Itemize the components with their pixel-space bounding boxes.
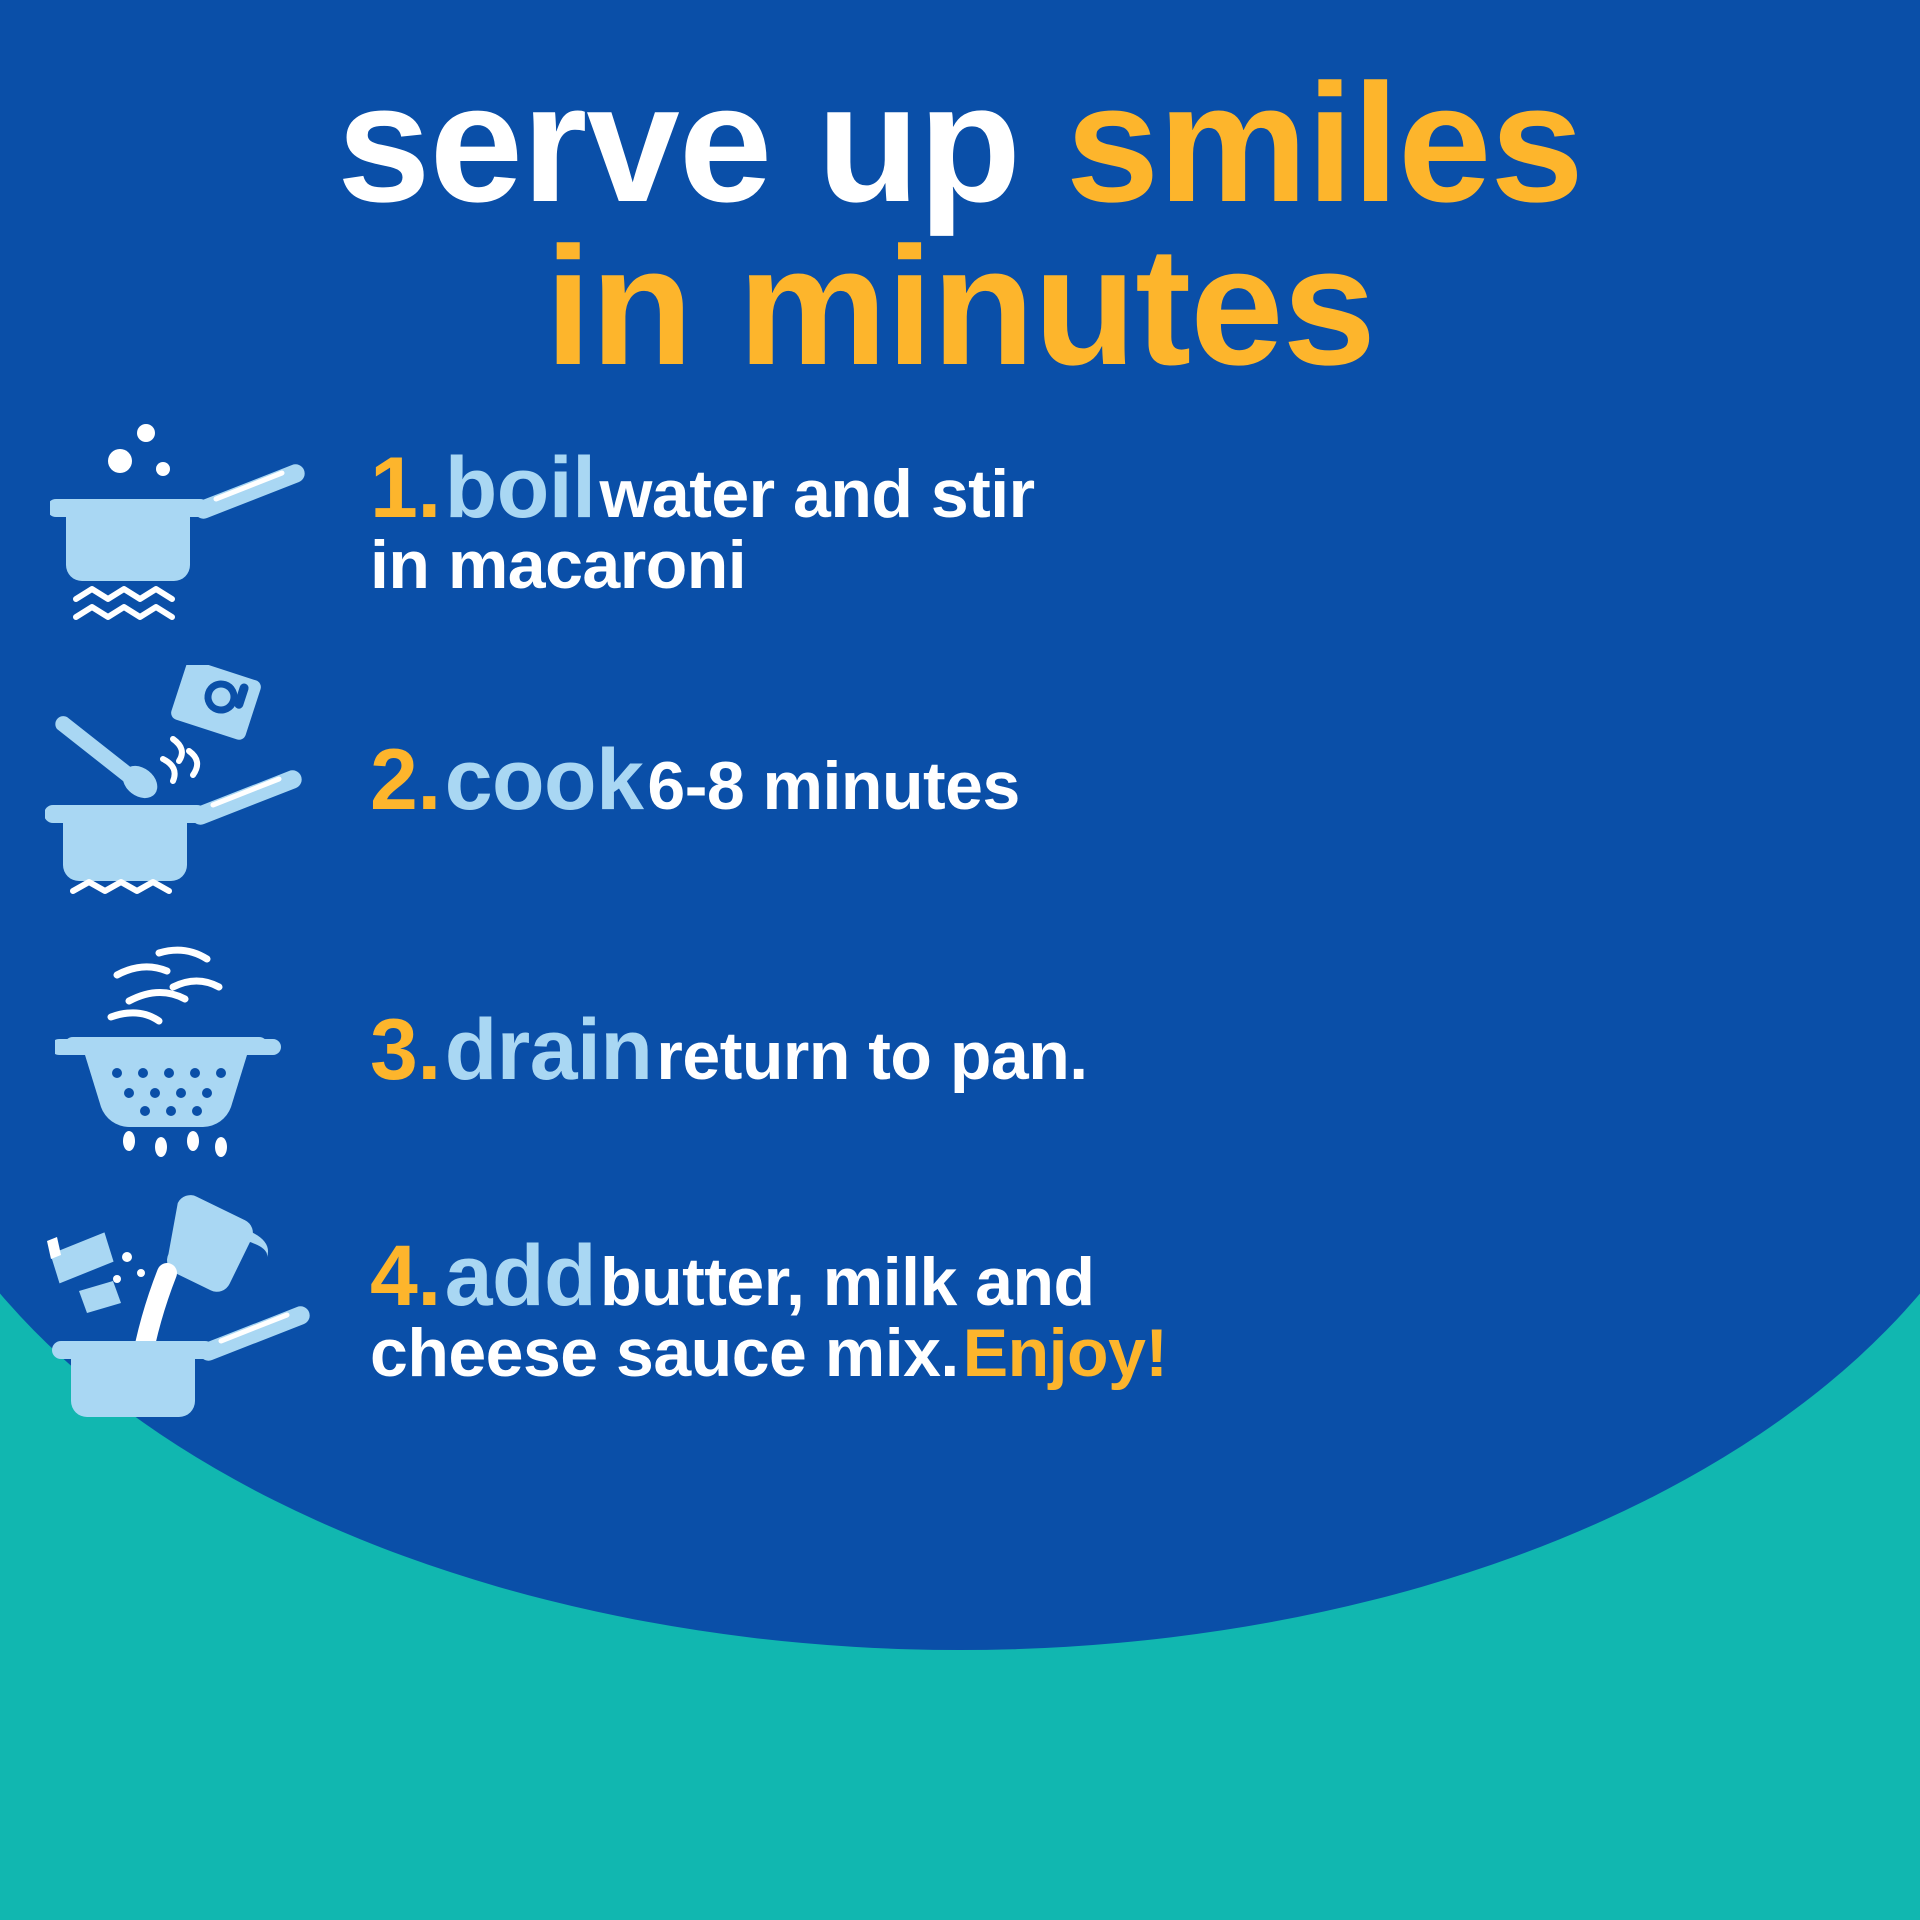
step-4-number: 4.	[370, 1228, 441, 1324]
step-4-keyword: add	[445, 1228, 596, 1324]
step-4-line-1: 4. add butter, milk and	[370, 1233, 1850, 1319]
step-1-text: 1. boil water and stir in macaroni	[370, 441, 1920, 599]
headline-serve-up: serve up	[337, 49, 1066, 237]
step-4-text: 4. add butter, milk and cheese sauce mix…	[370, 1233, 1920, 1387]
headline-line-1: serve up smiles	[0, 62, 1920, 225]
step-3: 3. drain return to pan.	[0, 930, 1920, 1170]
step-2-keyword: cook	[445, 732, 644, 828]
step-2-text: 2. cook 6-8 minutes	[370, 737, 1920, 823]
pot-stirring-pasta-box-icon	[0, 660, 370, 900]
step-4: 4. add butter, milk and cheese sauce mix…	[0, 1190, 1920, 1430]
step-4-line-2: cheese sauce mix. Enjoy!	[370, 1319, 1850, 1387]
step-3-text: 3. drain return to pan.	[370, 1007, 1920, 1093]
page-title: serve up smiles in minutes	[0, 62, 1920, 388]
step-1-number: 1.	[370, 440, 441, 536]
step-1: 1. boil water and stir in macaroni	[0, 400, 1920, 640]
step-4-enjoy: Enjoy!	[963, 1315, 1168, 1391]
step-2-line-1: 2. cook 6-8 minutes	[370, 737, 1850, 823]
step-4-rest-1: butter, milk and	[600, 1244, 1095, 1320]
step-3-keyword: drain	[445, 1002, 653, 1098]
recipe-instructions-graphic: serve up smiles in minutes	[0, 0, 1920, 1920]
step-3-rest-1: return to pan.	[656, 1018, 1087, 1094]
step-2: 2. cook 6-8 minutes	[0, 660, 1920, 900]
step-4-rest-2: cheese sauce mix.	[370, 1315, 959, 1391]
step-1-keyword: boil	[445, 440, 596, 536]
step-1-rest-1: water and stir	[600, 456, 1035, 532]
step-3-number: 3.	[370, 1002, 441, 1098]
step-3-line-1: 3. drain return to pan.	[370, 1007, 1850, 1093]
headline-line-2: in minutes	[0, 225, 1920, 388]
pot-boiling-water-icon	[0, 400, 370, 640]
headline-smiles: smiles	[1066, 49, 1583, 237]
pot-pouring-milk-butter-icon	[0, 1190, 370, 1430]
step-2-rest-1: 6-8 minutes	[647, 748, 1019, 824]
step-1-line-1: 1. boil water and stir	[370, 445, 1850, 531]
colander-draining-icon	[0, 930, 370, 1170]
step-2-number: 2.	[370, 732, 441, 828]
step-1-rest-2: in macaroni	[370, 531, 1850, 599]
